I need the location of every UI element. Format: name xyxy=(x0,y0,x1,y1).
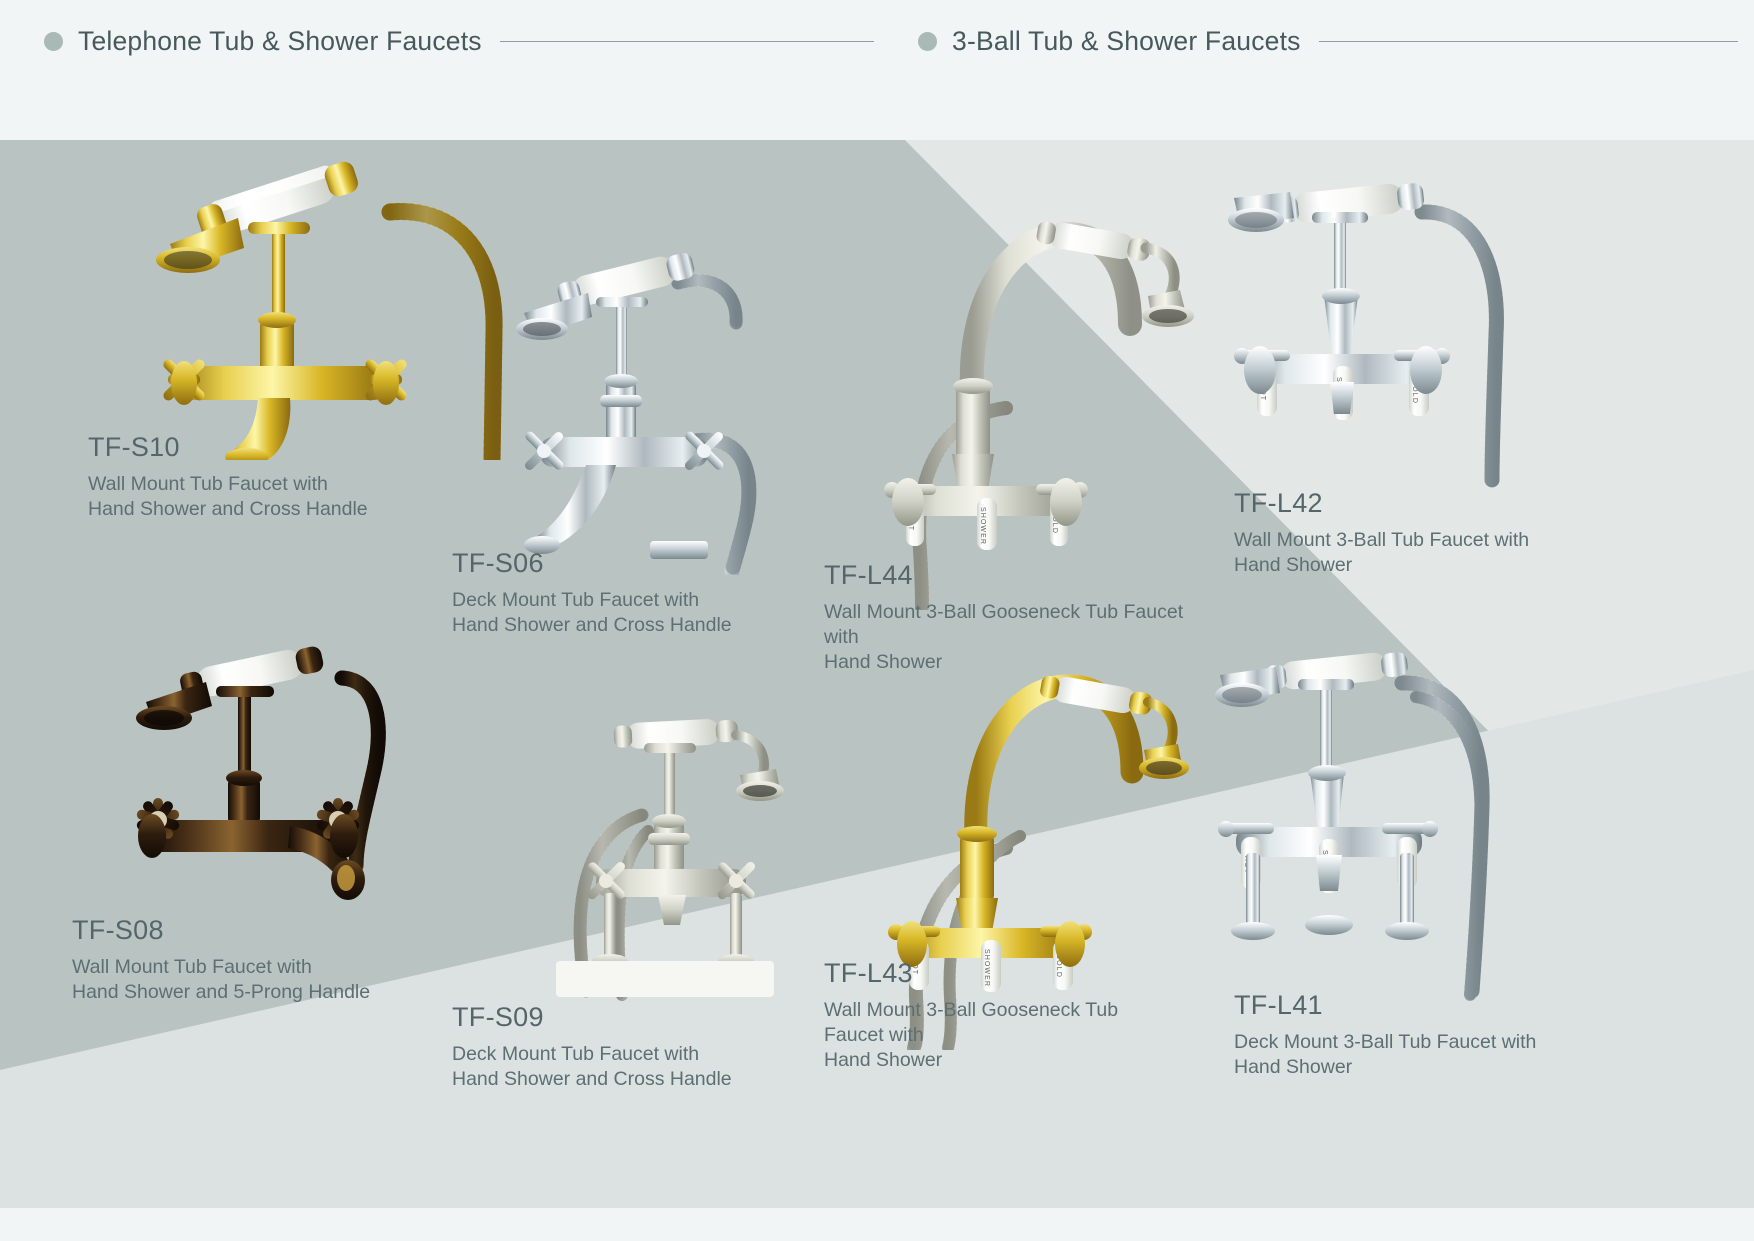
svg-text:SHOWER: SHOWER xyxy=(979,507,986,545)
product-description: Deck Mount 3-Ball Tub Faucet with Hand S… xyxy=(1234,1030,1554,1080)
section-header-telephone: Telephone Tub & Shower Faucets xyxy=(44,26,874,57)
product-description: Wall Mount Tub Faucet with Hand Shower a… xyxy=(72,955,372,1005)
section-rule xyxy=(500,41,874,42)
product-image-tf-l44: HOT SHOWER COLD xyxy=(880,190,1210,610)
product-description: Deck Mount Tub Faucet with Hand Shower a… xyxy=(452,588,752,638)
product-code: TF-S09 xyxy=(452,1002,752,1033)
product-tf-l43: TF-L43 Wall Mount 3-Ball Gooseneck Tub F… xyxy=(824,958,1174,1073)
product-description: Wall Mount 3-Ball Tub Faucet with Hand S… xyxy=(1234,528,1554,578)
bullet-dot-icon xyxy=(44,32,63,51)
section-rule xyxy=(1319,41,1738,42)
product-code: TF-S08 xyxy=(72,915,372,946)
product-tf-l41: TF-L41 Deck Mount 3-Ball Tub Faucet with… xyxy=(1234,990,1554,1080)
product-description: Wall Mount Tub Faucet with Hand Shower a… xyxy=(88,472,388,522)
product-image-tf-s08 xyxy=(110,630,410,960)
product-code: TF-S06 xyxy=(452,548,752,579)
product-code: TF-L44 xyxy=(824,560,1184,591)
product-panel: TF-S10 Wall Mount Tub Faucet with Hand S… xyxy=(0,140,1754,1208)
product-description: Wall Mount 3-Ball Gooseneck Tub Faucet w… xyxy=(824,998,1174,1073)
product-code: TF-L41 xyxy=(1234,990,1554,1021)
product-code: TF-L43 xyxy=(824,958,1174,989)
section-title: 3-Ball Tub & Shower Faucets xyxy=(952,26,1301,57)
footer-band xyxy=(0,1208,1754,1241)
header-band: Telephone Tub & Shower Faucets 3-Ball Tu… xyxy=(0,0,1754,140)
section-title: Telephone Tub & Shower Faucets xyxy=(78,26,482,57)
product-image-tf-s10 xyxy=(140,160,560,460)
product-image-tf-s06 xyxy=(500,245,800,575)
product-tf-s09: TF-S09 Deck Mount Tub Faucet with Hand S… xyxy=(452,1002,752,1092)
product-tf-l42: TF-L42 Wall Mount 3-Ball Tub Faucet with… xyxy=(1234,488,1554,578)
product-tf-s08: TF-S08 Wall Mount Tub Faucet with Hand S… xyxy=(72,915,372,1005)
product-image-tf-l42: HOT SHOWER COLD xyxy=(1200,162,1530,502)
product-tf-s06: TF-S06 Deck Mount Tub Faucet with Hand S… xyxy=(452,548,752,638)
product-tf-s10: TF-S10 Wall Mount Tub Faucet with Hand S… xyxy=(88,432,388,522)
product-image-tf-s09 xyxy=(530,705,810,1005)
product-code: TF-L42 xyxy=(1234,488,1554,519)
product-description: Deck Mount Tub Faucet with Hand Shower a… xyxy=(452,1042,752,1092)
product-code: TF-S10 xyxy=(88,432,388,463)
product-image-tf-l41: HOT SHOWER COLD xyxy=(1190,635,1520,1035)
section-header-3ball: 3-Ball Tub & Shower Faucets xyxy=(918,26,1738,57)
bullet-dot-icon xyxy=(918,32,937,51)
